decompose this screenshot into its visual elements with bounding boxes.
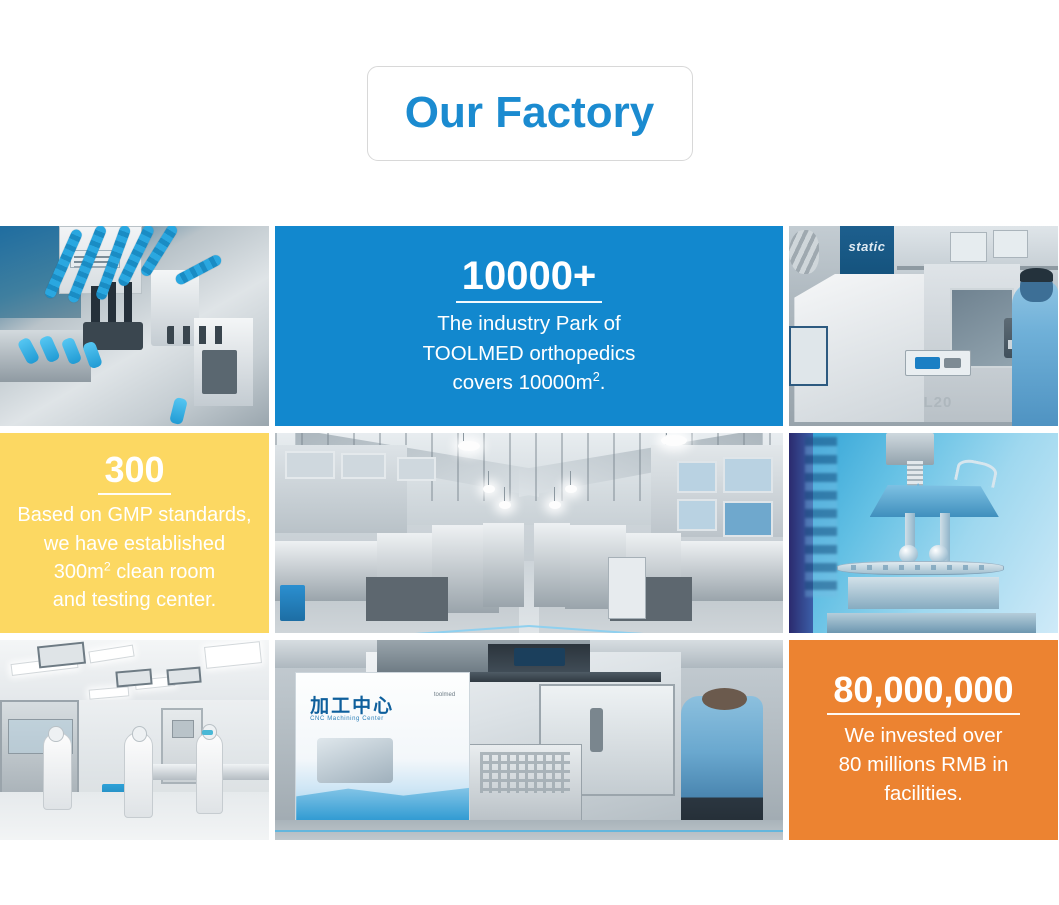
blue-coolant-drum: [280, 585, 305, 621]
right-window-3: [723, 501, 773, 537]
operator-hair: [1020, 268, 1052, 282]
cell-cnc-drilling-closeup: [0, 226, 269, 426]
right-window-4: [677, 499, 717, 531]
machine-operator-body: [681, 696, 762, 836]
workshop-wide-view-image: [275, 433, 783, 633]
side-module: [202, 350, 237, 394]
page-title-pill: Our Factory: [367, 66, 693, 161]
stat-investment-line-1: We invested over: [839, 721, 1009, 750]
cleanroom-worker-2: [124, 732, 153, 818]
hepa-filter-3: [166, 667, 201, 686]
pendant-lamp-6: [661, 435, 687, 446]
banner-chinese-title: 加工中心: [310, 691, 394, 718]
page-title: Our Factory: [405, 91, 654, 135]
stat-cleanroom-line-1: Based on GMP standards,: [17, 501, 251, 529]
stat-cleanroom-number: 300: [98, 451, 170, 495]
right-window-1: [723, 457, 773, 493]
stat-area-description: The industry Park of TOOLMED orthopedics…: [423, 309, 636, 396]
coolant-nozzle-5: [169, 397, 188, 425]
banner-wave-graphic: [296, 783, 469, 821]
cell-workshop-wide-view: [275, 433, 783, 633]
machine-base-left: [366, 577, 447, 621]
cleanroom-worker-1: [43, 732, 72, 810]
left-window-3: [397, 457, 437, 481]
machine-blue-column: static: [840, 226, 894, 278]
machining-center-banner-image: 加工中心 CNC Machining Center toolmed: [275, 640, 783, 840]
right-window-2: [677, 461, 717, 493]
background-window-2: [993, 230, 1027, 258]
stat-investment-line-3: facilities.: [839, 779, 1009, 808]
blurred-rack: [805, 437, 837, 597]
stat-area-line-1: The industry Park of: [423, 309, 636, 338]
tool-cart: [608, 557, 646, 619]
worker-mask-3: [202, 730, 213, 735]
tool-holder-holes: [167, 326, 226, 344]
wall-poster: [789, 326, 828, 386]
citizen-brand-badge: [905, 350, 972, 376]
factory-showcase-page: Our Factory: [0, 0, 1059, 905]
machine-gantry-arm: [468, 672, 661, 682]
stat-cleanroom-line-4: and testing center.: [17, 586, 251, 614]
banner-product-illustration: [317, 738, 393, 782]
factory-grid: 10000+ The industry Park of TOOLMED orth…: [0, 226, 1059, 851]
stat-investment-line-2: 80 millions RMB in: [839, 750, 1009, 779]
pendant-lamp-5: [458, 441, 480, 451]
machine-door-handle: [590, 708, 603, 752]
machine-row-right-4: [534, 523, 570, 607]
bone-plate-specimen: [837, 561, 1004, 575]
background-window-1: [950, 232, 987, 262]
cleanroom-worker-3: [196, 732, 222, 814]
floor-marking-strip: [275, 830, 783, 832]
lathe-model-label: L20: [924, 394, 953, 411]
pendant-lamp-3: [565, 485, 577, 493]
worker-hood-2: [132, 726, 147, 742]
cell-cleanroom-workers: [0, 640, 269, 840]
cell-cnc-lathe-operator: static L20: [789, 226, 1058, 426]
cell-bend-testing-machine: [789, 433, 1058, 633]
haas-logo-plate: [514, 648, 565, 666]
cnc-lathe-operator-image: static L20: [789, 226, 1058, 426]
stat-cleanroom-line-3: 300m2 clean room: [17, 558, 251, 586]
stat-cleanroom-description: Based on GMP standards, we have establis…: [17, 501, 251, 615]
wire-clip: [954, 457, 999, 488]
support-anvil: [848, 577, 999, 609]
stat-investment-description: We invested over 80 millions RMB in faci…: [839, 721, 1009, 808]
pendant-lamp-2: [499, 501, 511, 509]
banner-brand-label: toolmed: [434, 692, 455, 700]
cnc-drilling-closeup-image: [0, 226, 269, 426]
bend-testing-machine-image: [789, 433, 1058, 633]
machine-base: [827, 613, 1037, 633]
machine-row-left-4: [483, 523, 524, 607]
extraction-duct: [789, 230, 819, 274]
machine-brand-static-label: static: [849, 242, 886, 252]
threaded-shaft: [907, 461, 923, 487]
hepa-filter-2: [115, 668, 153, 687]
cell-machining-center-banner: 加工中心 CNC Machining Center toolmed: [275, 640, 783, 840]
stat-panel-cleanroom: 300 Based on GMP standards, we have esta…: [0, 433, 269, 633]
operator-body: [1012, 282, 1058, 426]
cleanroom-workers-image: [0, 640, 269, 840]
page-header: Our Factory: [0, 0, 1059, 226]
cnc-machining-center-banner: 加工中心 CNC Machining Center toolmed: [295, 672, 470, 822]
stat-area-line-2: TOOLMED orthopedics: [423, 339, 636, 368]
stat-cleanroom-line-2: we have established: [17, 530, 251, 558]
stat-area-number: 10000+: [456, 255, 603, 303]
left-window-2: [341, 453, 386, 479]
left-window-1: [285, 451, 335, 479]
stat-area-line-3: covers 10000m2.: [423, 368, 636, 397]
stat-investment-number: 80,000,000: [827, 671, 1019, 715]
crosshead-fixture: [870, 485, 999, 517]
stat-panel-area: 10000+ The industry Park of TOOLMED orth…: [275, 226, 783, 426]
machine-operator-head: [702, 688, 748, 710]
worker-hood-1: [48, 726, 63, 742]
stat-panel-investment: 80,000,000 We invested over 80 millions …: [789, 640, 1058, 840]
banner-english-title: CNC Machining Center: [310, 716, 384, 722]
